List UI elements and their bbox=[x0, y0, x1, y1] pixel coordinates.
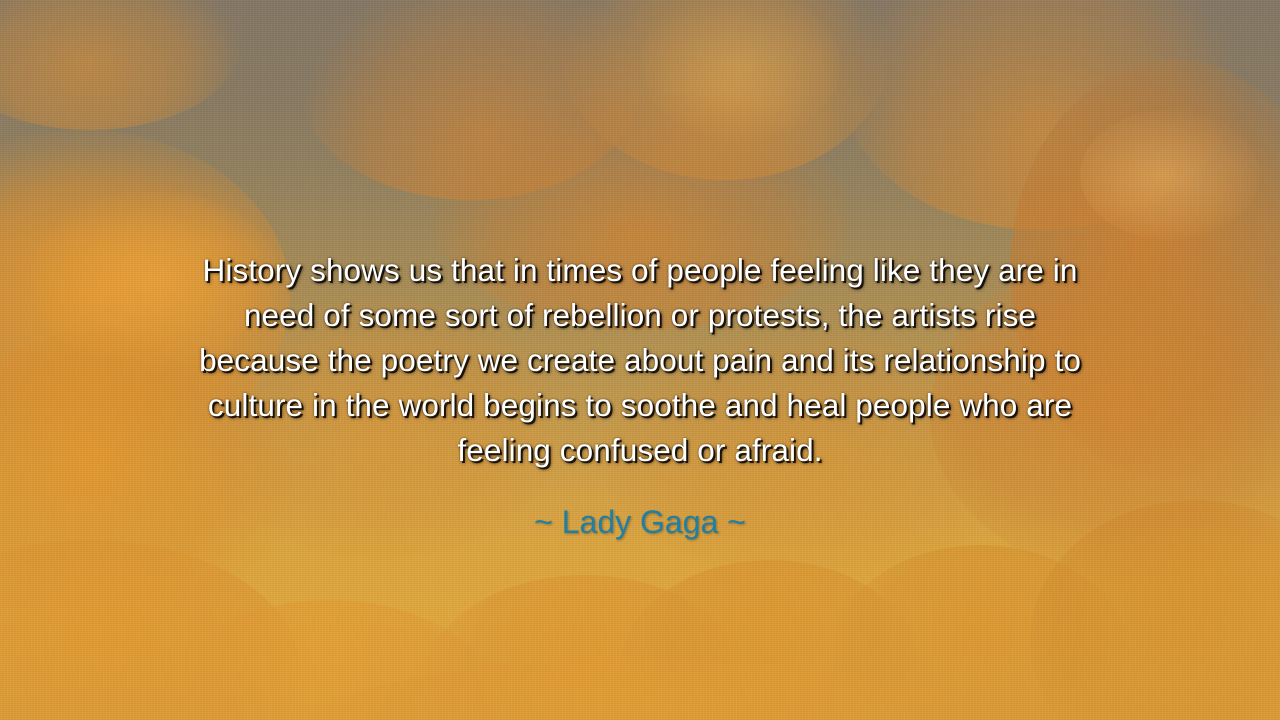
quote-line: need of some sort of rebellion or protes… bbox=[130, 293, 1150, 338]
quote-content: History shows us that in times of people… bbox=[0, 248, 1280, 542]
quote-attribution: ~ Lady Gaga ~ bbox=[60, 502, 1220, 542]
sky-haze-top bbox=[0, 0, 1280, 240]
quote-line: culture in the world begins to soothe an… bbox=[130, 383, 1150, 428]
quote-line: History shows us that in times of people… bbox=[130, 248, 1150, 293]
quote-line: because the poetry we create about pain … bbox=[130, 338, 1150, 383]
quote-card: History shows us that in times of people… bbox=[0, 0, 1280, 720]
quote-text: History shows us that in times of people… bbox=[130, 248, 1150, 473]
quote-line: feeling confused or afraid. bbox=[130, 428, 1150, 473]
